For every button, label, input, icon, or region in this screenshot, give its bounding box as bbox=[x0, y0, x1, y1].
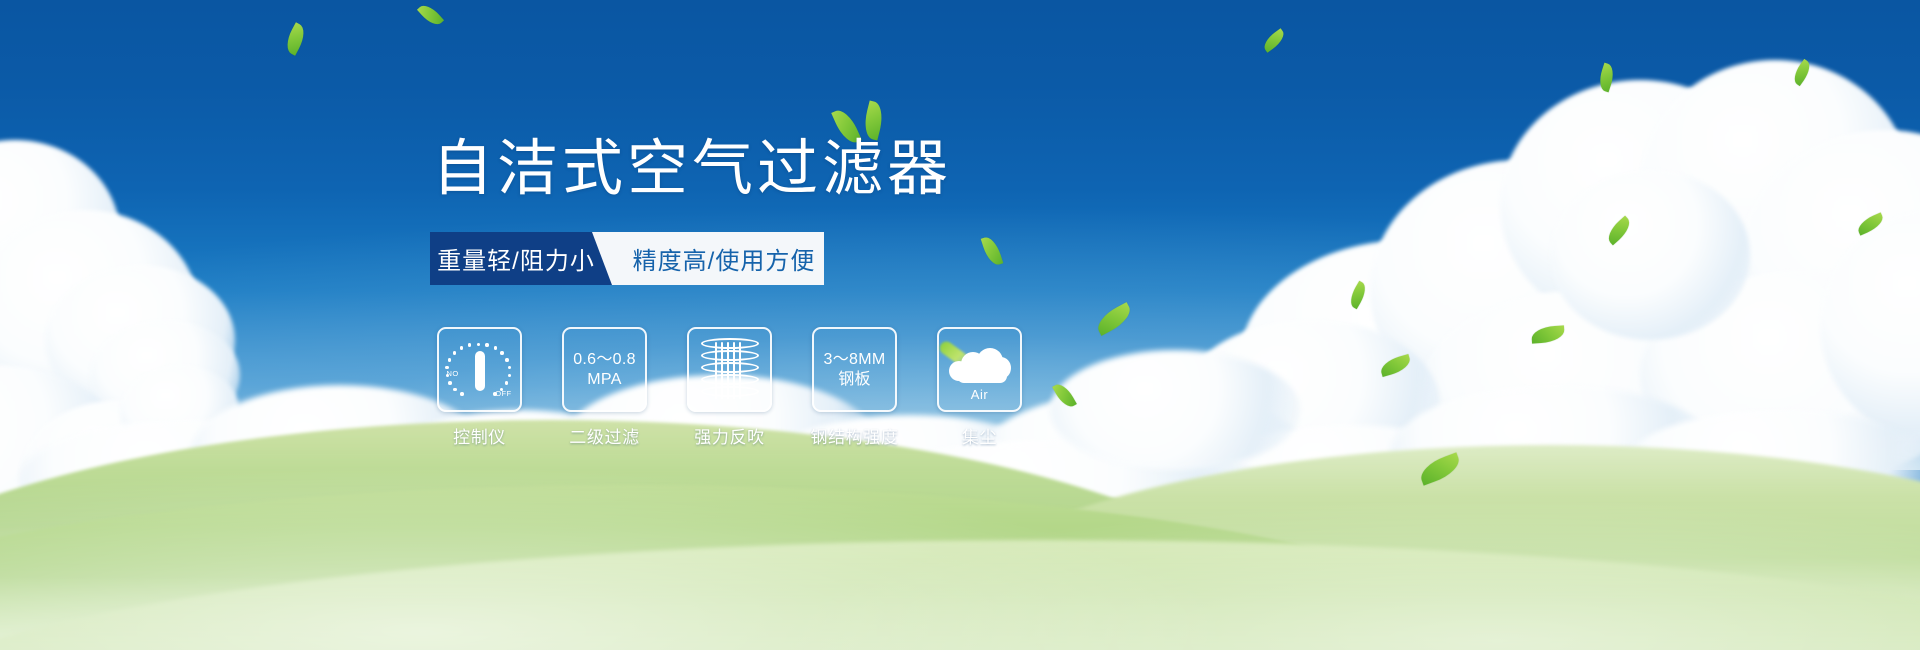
feature-icon-box: Air bbox=[937, 327, 1022, 412]
feature-caption: 钢结构强度 bbox=[811, 423, 899, 448]
feature-item-two-stage-filter[interactable]: 0.6～0.8 MPA 二级过滤 bbox=[562, 327, 647, 448]
feature-caption: 集尘 bbox=[962, 423, 997, 448]
tab-label: 精度高/使用方便 bbox=[633, 241, 816, 276]
pressure-line-2: MPA bbox=[573, 370, 636, 390]
steel-line-1: 3～8MM bbox=[824, 350, 886, 370]
tab-high-precision-easy-use[interactable]: 精度高/使用方便 bbox=[612, 232, 824, 285]
feature-caption: 二级过滤 bbox=[569, 423, 639, 448]
air-cloud-icon: Air bbox=[947, 341, 1013, 399]
steel-line-2: 钢板 bbox=[824, 370, 886, 390]
page-title: 自洁式空气过滤器 bbox=[432, 133, 952, 205]
control-dial-icon: NO OFF bbox=[447, 339, 513, 401]
filter-coil-icon bbox=[701, 338, 759, 402]
pressure-line-1: 0.6～0.8 bbox=[573, 350, 636, 370]
air-label: Air bbox=[947, 387, 1013, 402]
feature-icon-box: NO OFF bbox=[437, 327, 522, 412]
dial-label-off: OFF bbox=[495, 389, 511, 398]
tab-label: 重量轻/阻力小 bbox=[437, 241, 595, 276]
feature-icon-box: 3～8MM 钢板 bbox=[812, 327, 897, 412]
feature-tabs: 重量轻/阻力小 精度高/使用方便 bbox=[430, 232, 824, 285]
feature-item-dust-collection[interactable]: Air 集尘 bbox=[937, 327, 1022, 448]
feature-item-strong-backblow[interactable]: 强力反吹 bbox=[687, 327, 772, 448]
feature-icon-box bbox=[687, 327, 772, 412]
feature-caption: 强力反吹 bbox=[694, 423, 764, 448]
tab-lightweight-low-resistance[interactable]: 重量轻/阻力小 bbox=[430, 232, 612, 285]
dial-label-on: NO bbox=[447, 369, 459, 378]
feature-item-controller[interactable]: NO OFF 控制仪 bbox=[437, 327, 522, 448]
feature-caption: 控制仪 bbox=[453, 423, 506, 448]
feature-icon-box: 0.6～0.8 MPA bbox=[562, 327, 647, 412]
feature-item-steel-strength[interactable]: 3～8MM 钢板 钢结构强度 bbox=[812, 327, 897, 448]
feature-list: NO OFF 控制仪 0.6～0.8 MPA 二级过滤 bbox=[437, 327, 1022, 448]
steel-plate-text-icon: 3～8MM 钢板 bbox=[824, 350, 886, 390]
cloud-base bbox=[957, 369, 1007, 383]
pressure-text-icon: 0.6～0.8 MPA bbox=[573, 350, 636, 390]
dial-needle bbox=[475, 351, 485, 391]
product-banner: 自洁式空气过滤器 重量轻/阻力小 精度高/使用方便 bbox=[0, 0, 1920, 650]
